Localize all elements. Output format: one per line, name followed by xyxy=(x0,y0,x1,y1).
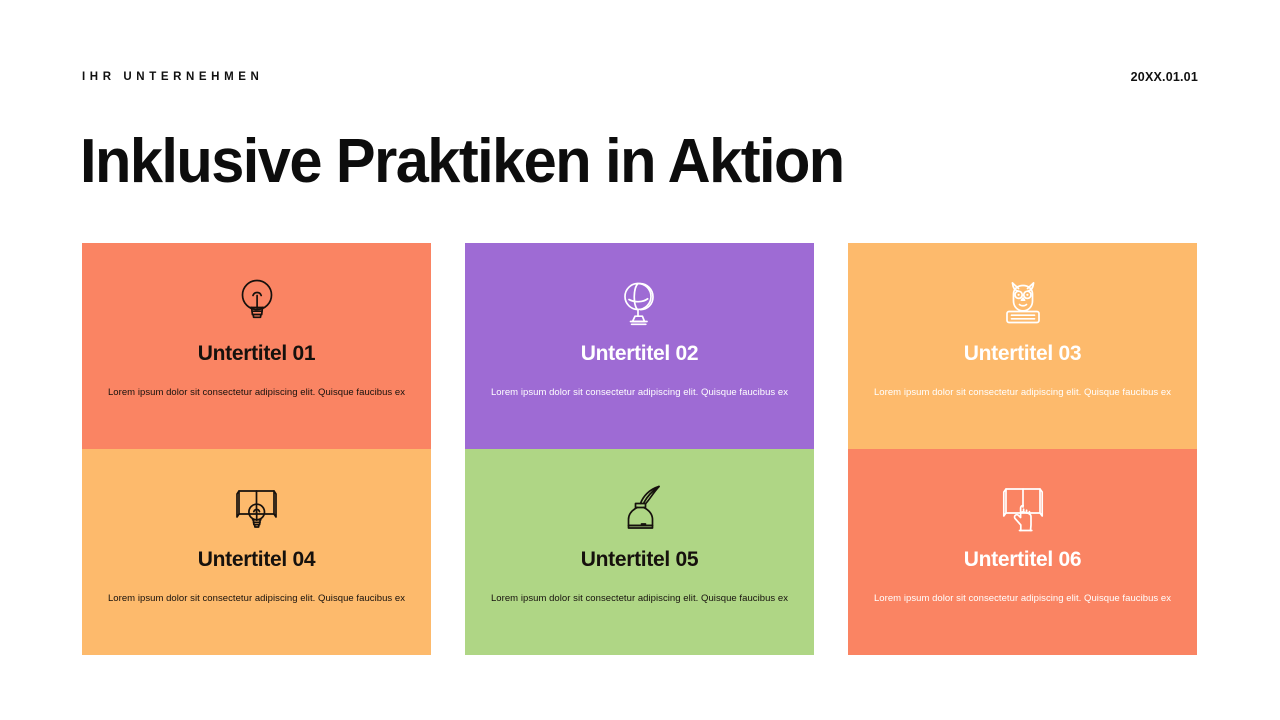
card-body: Lorem ipsum dolor sit consectetur adipis… xyxy=(874,592,1171,606)
card-body: Lorem ipsum dolor sit consectetur adipis… xyxy=(491,592,788,606)
card-title: Untertitel 06 xyxy=(964,548,1081,571)
card-title: Untertitel 04 xyxy=(198,548,315,571)
card-title: Untertitel 03 xyxy=(964,342,1081,365)
company-name: IHR UNTERNEHMEN xyxy=(82,70,282,86)
card-body: Lorem ipsum dolor sit consectetur adipis… xyxy=(108,592,405,606)
card-03[interactable]: Untertitel 03 Lorem ipsum dolor sit cons… xyxy=(848,243,1197,449)
slide-date: 20XX.01.01 xyxy=(1131,70,1198,84)
card-title: Untertitel 02 xyxy=(581,342,698,365)
page-title: Inklusive Praktiken in Aktion xyxy=(80,131,844,193)
card-05[interactable]: Untertitel 05 Lorem ipsum dolor sit cons… xyxy=(465,449,814,655)
card-06[interactable]: Untertitel 06 Lorem ipsum dolor sit cons… xyxy=(848,449,1197,655)
inkwell-quill-icon xyxy=(609,477,671,537)
book-lightbulb-icon xyxy=(226,477,288,537)
card-grid: Untertitel 01 Lorem ipsum dolor sit cons… xyxy=(82,243,1198,655)
lightbulb-icon xyxy=(226,271,288,331)
card-body: Lorem ipsum dolor sit consectetur adipis… xyxy=(874,386,1171,400)
card-01[interactable]: Untertitel 01 Lorem ipsum dolor sit cons… xyxy=(82,243,431,449)
card-title: Untertitel 01 xyxy=(198,342,315,365)
card-04[interactable]: Untertitel 04 Lorem ipsum dolor sit cons… xyxy=(82,449,431,655)
globe-icon xyxy=(609,271,671,331)
book-hand-icon xyxy=(992,477,1054,537)
card-02[interactable]: Untertitel 02 Lorem ipsum dolor sit cons… xyxy=(465,243,814,449)
slide-canvas: IHR UNTERNEHMEN 20XX.01.01 Inklusive Pra… xyxy=(0,0,1280,720)
slide-header: IHR UNTERNEHMEN 20XX.01.01 xyxy=(82,70,1198,86)
card-body: Lorem ipsum dolor sit consectetur adipis… xyxy=(491,386,788,400)
card-title: Untertitel 05 xyxy=(581,548,698,571)
card-body: Lorem ipsum dolor sit consectetur adipis… xyxy=(108,386,405,400)
owl-on-book-icon xyxy=(992,271,1054,331)
